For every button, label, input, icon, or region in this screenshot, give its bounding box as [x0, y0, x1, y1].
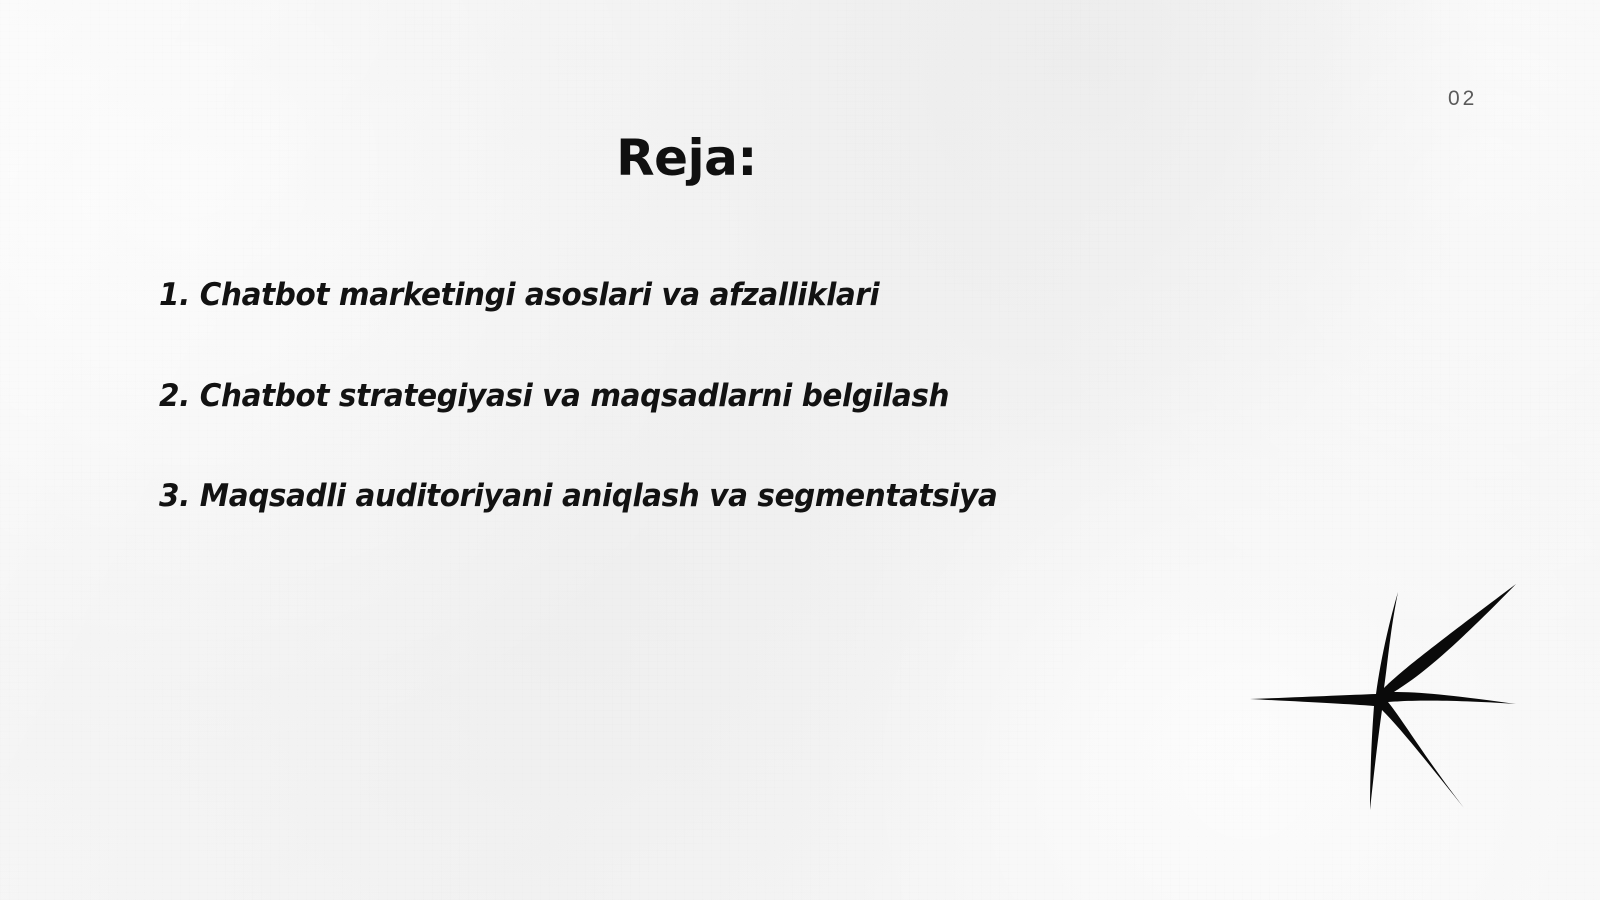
list-item: 3. Maqsadli auditoriyani aniqlash va seg…: [159, 479, 1204, 515]
page-number: 02: [1448, 88, 1477, 109]
list-item: 1. Chatbot marketingi asoslari va afzall…: [159, 278, 1204, 314]
five-point-star-icon: [1248, 580, 1518, 810]
list-item: 2. Chatbot strategiyasi va maqsadlarni b…: [159, 379, 1204, 415]
page-title: Reja:: [0, 131, 1373, 186]
slide-canvas: 02 Reja: 1. Chatbot marketingi asoslari …: [0, 0, 1600, 900]
agenda-list: 1. Chatbot marketingi asoslari va afzall…: [159, 278, 1259, 515]
